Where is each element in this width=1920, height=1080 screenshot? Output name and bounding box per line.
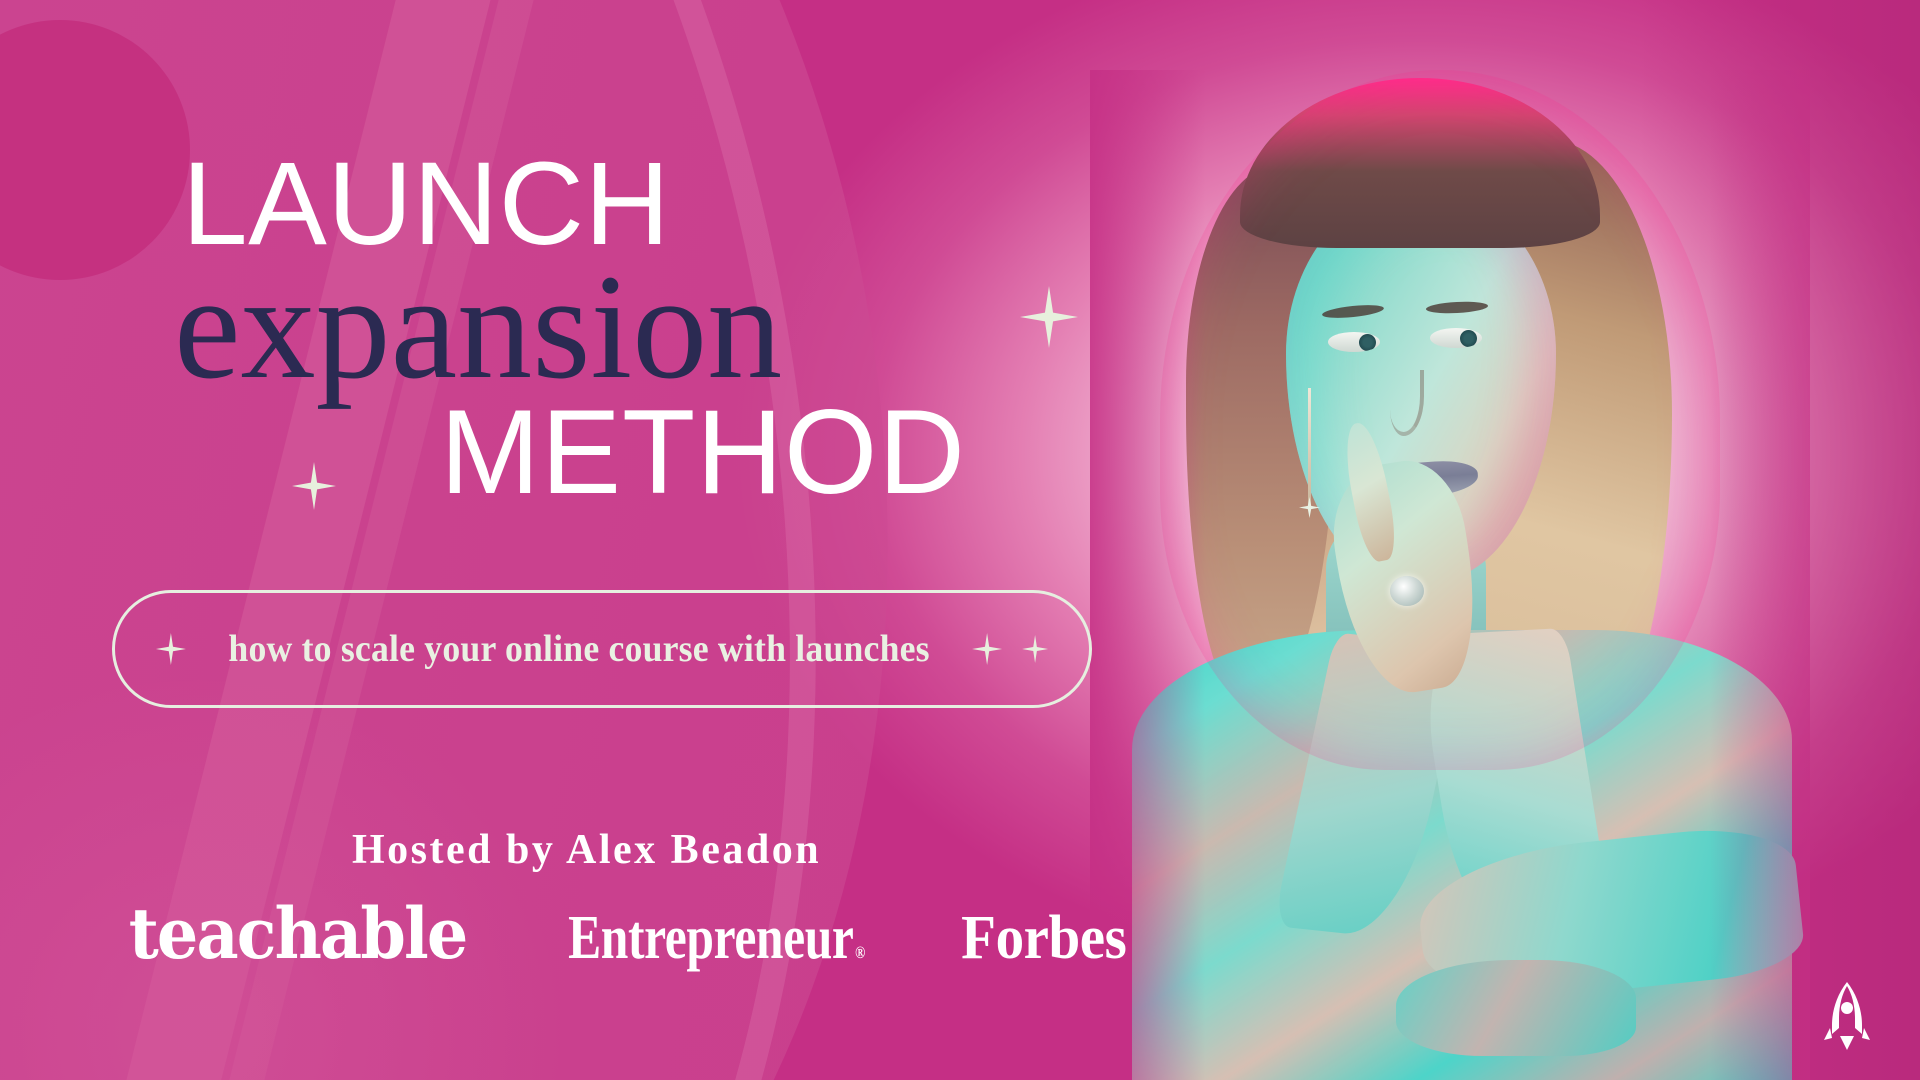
- portrait-belt-knot: [1396, 960, 1636, 1056]
- headline-line-method: METHOD: [440, 397, 1180, 507]
- portrait-earring: [1308, 388, 1311, 508]
- headline-line-expansion: expansion: [174, 261, 1180, 393]
- logo-forbes: Forbes: [961, 903, 1126, 974]
- subtitle-text: how to scale your online course with lau…: [228, 627, 929, 671]
- portrait-eye-right: [1430, 328, 1482, 348]
- headline-line-launch: LAUNCH: [182, 150, 1180, 259]
- portrait-hair-top: [1240, 78, 1600, 248]
- portrait-iris-left: [1359, 334, 1376, 351]
- host-portrait: [1090, 70, 1810, 1080]
- sparkle-icon: [1022, 635, 1048, 663]
- subtitle-pill: how to scale your online course with lau…: [112, 590, 1092, 708]
- rocket-icon: [1818, 978, 1876, 1052]
- logo-entrepreneur: Entrepreneur®: [568, 903, 865, 974]
- logo-entrepreneur-word: Entrepreneur: [568, 904, 853, 972]
- banner-canvas: LAUNCH expansion METHOD how to scale you…: [0, 0, 1920, 1080]
- portrait-ring: [1390, 576, 1424, 606]
- registered-mark-icon: ®: [855, 943, 865, 962]
- press-logo-row: teachable Entrepreneur® Forbes: [116, 892, 1134, 975]
- sparkle-icon: [972, 633, 1002, 665]
- logo-teachable: teachable: [129, 892, 467, 975]
- host-line: Hosted by Alex Beadon: [352, 826, 821, 874]
- portrait-iris-right: [1460, 330, 1477, 347]
- portrait-eye-left: [1328, 332, 1380, 352]
- sparkle-icon: [156, 633, 186, 665]
